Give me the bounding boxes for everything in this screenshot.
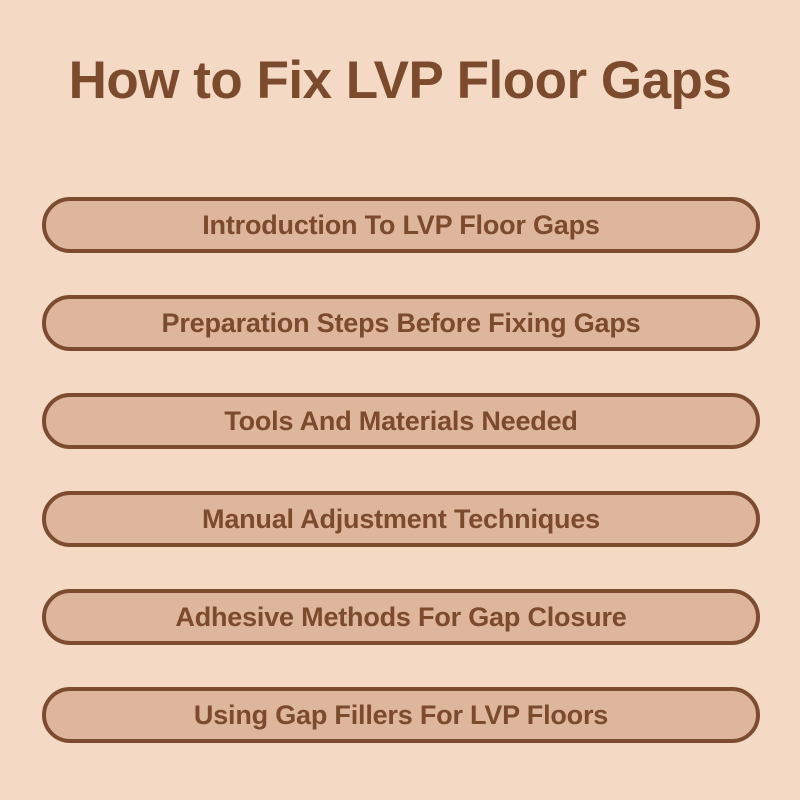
step-label: Preparation Steps Before Fixing Gaps: [162, 308, 641, 338]
step-label: Adhesive Methods For Gap Closure: [175, 602, 626, 632]
infographic-canvas: How to Fix LVP Floor Gaps Introduction T…: [0, 0, 800, 800]
step-label: Introduction To LVP Floor Gaps: [202, 210, 599, 240]
step-pill-2[interactable]: Preparation Steps Before Fixing Gaps: [42, 295, 760, 351]
page-title: How to Fix LVP Floor Gaps: [0, 52, 800, 110]
step-pill-6[interactable]: Using Gap Fillers For LVP Floors: [42, 687, 760, 743]
step-label: Tools And Materials Needed: [224, 406, 577, 436]
step-label: Using Gap Fillers For LVP Floors: [194, 700, 608, 730]
step-label: Manual Adjustment Techniques: [202, 504, 600, 534]
step-pill-1[interactable]: Introduction To LVP Floor Gaps: [42, 197, 760, 253]
step-pill-3[interactable]: Tools And Materials Needed: [42, 393, 760, 449]
step-pill-5[interactable]: Adhesive Methods For Gap Closure: [42, 589, 760, 645]
steps-list: Introduction To LVP Floor Gaps Preparati…: [42, 197, 760, 743]
step-pill-4[interactable]: Manual Adjustment Techniques: [42, 491, 760, 547]
